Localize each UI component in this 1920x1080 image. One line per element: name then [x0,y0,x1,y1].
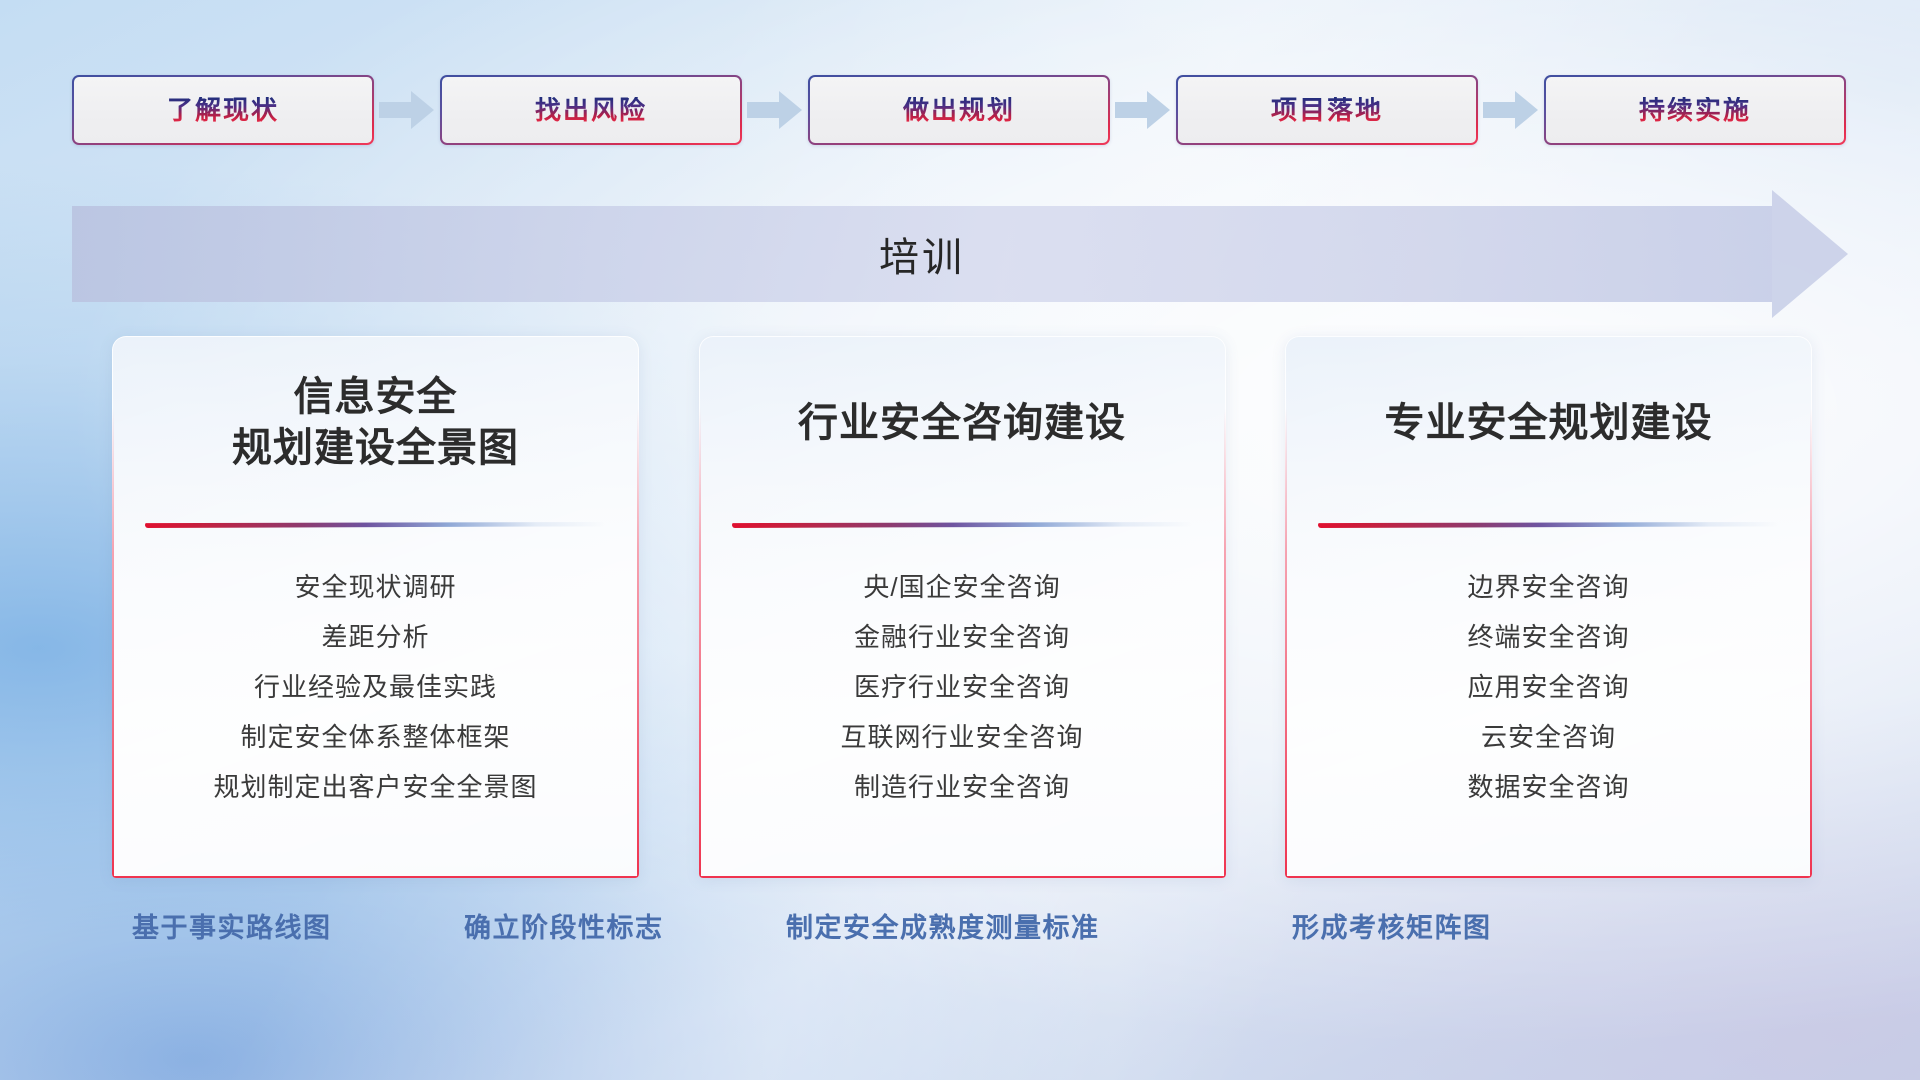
card-3-list: 边界安全咨询 终端安全咨询 应用安全咨询 云安全咨询 数据安全咨询 [1285,562,1812,812]
arrow-right-icon [1478,88,1544,132]
process-step-2[interactable]: 找出风险 [440,75,742,145]
list-item: 制定安全体系整体框架 [112,712,639,762]
training-banner-title: 培训 [72,206,1772,302]
process-step-3[interactable]: 做出规划 [808,75,1110,145]
list-item: 央/国企安全咨询 [699,562,1226,612]
card-2-title: 行业安全咨询建设 [699,398,1226,449]
training-banner: 培训 [72,206,1848,302]
bottom-label-1: 基于事实路线图 [132,912,332,944]
process-step-1-inner: 了解现状 [74,77,372,143]
card-1-divider [145,522,605,528]
card-bottom-edge [1285,876,1812,878]
card-3-title: 专业安全规划建设 [1285,398,1812,449]
process-step-2-label: 找出风险 [535,97,647,123]
arrow-right-icon [742,88,808,132]
card-professional-security-planning[interactable]: 专业安全规划建设 边界安全咨询 终端安全咨询 应用安全咨询 云安全咨询 数据安全… [1285,336,1812,878]
bottom-label-2: 确立阶段性标志 [464,912,664,944]
list-item: 互联网行业安全咨询 [699,712,1226,762]
list-item: 金融行业安全咨询 [699,612,1226,662]
card-3-divider [1318,522,1778,528]
list-item: 终端安全咨询 [1285,612,1812,662]
list-item: 规划制定出客户安全全景图 [112,762,639,812]
process-step-1-label: 了解现状 [167,97,279,123]
list-item: 数据安全咨询 [1285,762,1812,812]
list-item: 边界安全咨询 [1285,562,1812,612]
process-step-1[interactable]: 了解现状 [72,75,374,145]
list-item: 安全现状调研 [112,562,639,612]
process-step-4-inner: 项目落地 [1178,77,1476,143]
process-step-5[interactable]: 持续实施 [1544,75,1846,145]
bottom-label-3: 制定安全成熟度测量标准 [786,912,1100,944]
arrow-right-icon [1110,88,1176,132]
card-industry-security-consulting[interactable]: 行业安全咨询建设 央/国企安全咨询 金融行业安全咨询 医疗行业安全咨询 互联网行… [699,336,1226,878]
banner-arrow-tip-icon [1772,190,1848,318]
list-item: 制造行业安全咨询 [699,762,1226,812]
process-step-4[interactable]: 项目落地 [1176,75,1478,145]
list-item: 应用安全咨询 [1285,662,1812,712]
list-item: 医疗行业安全咨询 [699,662,1226,712]
card-1-title: 信息安全 规划建设全景图 [112,372,639,474]
cards-row: 信息安全 规划建设全景图 安全现状调研 差距分析 行业经验及最佳实践 制定安全体… [112,336,1812,878]
process-step-3-inner: 做出规划 [810,77,1108,143]
process-step-5-inner: 持续实施 [1546,77,1844,143]
process-step-5-label: 持续实施 [1639,97,1751,123]
card-bottom-edge [112,876,639,878]
list-item: 云安全咨询 [1285,712,1812,762]
card-bottom-edge [699,876,1226,878]
card-information-security-panorama[interactable]: 信息安全 规划建设全景图 安全现状调研 差距分析 行业经验及最佳实践 制定安全体… [112,336,639,878]
bottom-label-4: 形成考核矩阵图 [1292,912,1492,944]
process-steps-row: 了解现状 找出风险 做出规划 项目落地 [72,74,1848,146]
list-item: 差距分析 [112,612,639,662]
card-2-divider [732,522,1192,528]
card-2-list: 央/国企安全咨询 金融行业安全咨询 医疗行业安全咨询 互联网行业安全咨询 制造行… [699,562,1226,812]
arrow-right-icon [374,88,440,132]
card-1-list: 安全现状调研 差距分析 行业经验及最佳实践 制定安全体系整体框架 规划制定出客户… [112,562,639,812]
process-step-4-label: 项目落地 [1271,97,1383,123]
list-item: 行业经验及最佳实践 [112,662,639,712]
process-step-2-inner: 找出风险 [442,77,740,143]
process-step-3-label: 做出规划 [903,97,1015,123]
bottom-labels-row: 基于事实路线图 确立阶段性标志 制定安全成熟度测量标准 形成考核矩阵图 [0,912,1920,968]
